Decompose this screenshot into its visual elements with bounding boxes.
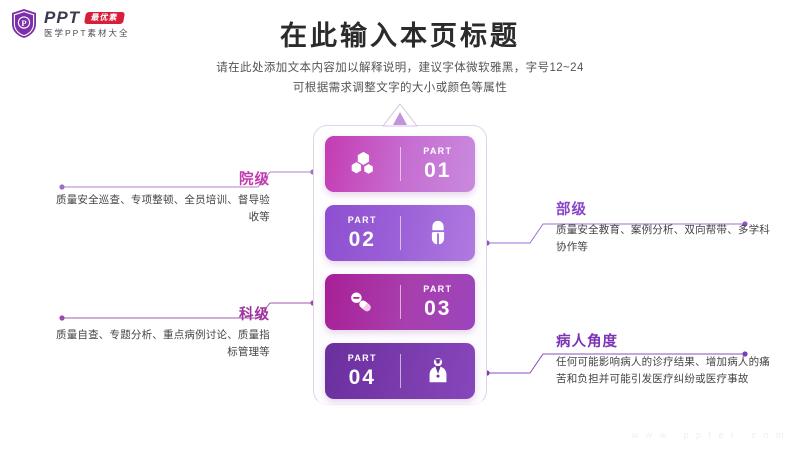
- side-right-top-heading: 部级: [556, 198, 771, 219]
- side-item-left-bottom: 科级 质量自查、专题分析、重点病例讨论、质量指标管理等: [55, 303, 270, 362]
- side-right-top-body: 质量安全教育、案例分析、双向帮带、多学科协作等: [556, 222, 771, 257]
- page-title: 在此输入本页标题: [0, 14, 800, 53]
- card-03-icon-slot: [325, 274, 400, 330]
- side-item-right-bottom: 病人角度 任何可能影响病人的诊疗结果、增加病人的痛苦和负担并可能引发医疗纠纷或医…: [556, 330, 771, 389]
- page-subtitle: 请在此处添加文本内容加以解释说明，建议字体微软雅黑，字号12~24 可根据需求调…: [0, 58, 800, 98]
- part-card-02[interactable]: PART 02: [325, 205, 475, 261]
- side-left-top-heading: 院级: [55, 168, 270, 189]
- side-left-bottom-heading: 科级: [55, 303, 270, 324]
- side-right-bottom-body: 任何可能影响病人的诊疗结果、增加病人的痛苦和负担并可能引发医疗纠纷或医疗事故: [556, 354, 771, 389]
- card-02-part-label: PART: [348, 216, 377, 225]
- slide-canvas: P PPT 最优素 医学PPT素材大全 在此输入本页标题 请在此处添加文本内容加…: [0, 0, 800, 450]
- side-left-bottom-body: 质量自查、专题分析、重点病例讨论、质量指标管理等: [55, 327, 270, 362]
- part-card-01[interactable]: PART 01: [325, 136, 475, 192]
- card-03-part-number: 03: [423, 298, 452, 319]
- side-right-bottom-heading: 病人角度: [556, 330, 771, 351]
- part-card-03[interactable]: PART 03: [325, 274, 475, 330]
- capsule-pill-icon: [423, 218, 453, 248]
- pills-tablet-icon: [347, 287, 377, 317]
- card-04-text-slot: PART 04: [325, 343, 400, 399]
- part-card-04[interactable]: PART 04: [325, 343, 475, 399]
- up-arrow-icon: [381, 103, 419, 127]
- card-01-part-label: PART: [423, 147, 452, 156]
- card-02-part-number: 02: [348, 229, 377, 250]
- side-left-top-body: 质量安全巡查、专项整顿、全员培训、督导验收等: [55, 192, 270, 227]
- card-03-text-slot: PART 03: [401, 274, 476, 330]
- side-item-right-top: 部级 质量安全教育、案例分析、双向帮带、多学科协作等: [556, 198, 771, 257]
- card-02-icon-slot: [401, 205, 476, 261]
- site-watermark: w w w . p p t e r . c o m: [631, 430, 786, 440]
- card-01-text-slot: PART 01: [401, 136, 476, 192]
- card-04-part-label: PART: [348, 354, 377, 363]
- card-02-text-slot: PART 02: [325, 205, 400, 261]
- card-03-part-label: PART: [423, 285, 452, 294]
- side-item-left-top: 院级 质量安全巡查、专项整顿、全员培训、督导验收等: [55, 168, 270, 227]
- doctor-icon: [423, 356, 453, 386]
- cards-container: PART 01 PART 02: [313, 125, 487, 405]
- molecule-hexagons-icon: [347, 149, 377, 179]
- card-01-icon-slot: [325, 136, 400, 192]
- subtitle-line-2: 可根据需求调整文字的大小或颜色等属性: [0, 78, 800, 98]
- subtitle-line-1: 请在此处添加文本内容加以解释说明，建议字体微软雅黑，字号12~24: [0, 58, 800, 78]
- card-04-icon-slot: [401, 343, 476, 399]
- card-01-part-number: 01: [423, 160, 452, 181]
- card-04-part-number: 04: [348, 367, 377, 388]
